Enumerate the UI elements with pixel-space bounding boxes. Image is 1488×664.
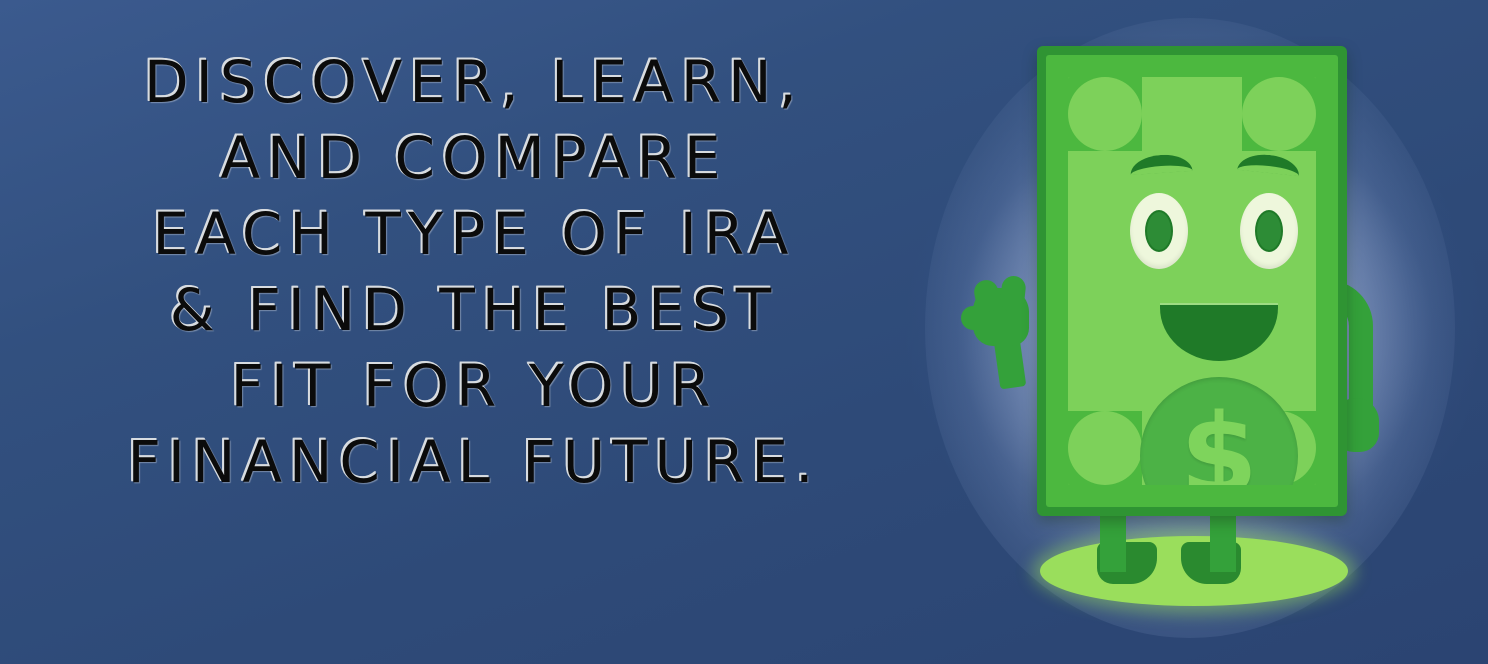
headline-line-6: FINANCIAL FUTURE. [0, 424, 948, 500]
corner-notch-bottom-left [1068, 411, 1142, 485]
dollar-bill-mascot: $ [955, 28, 1425, 628]
headline-line-2: AND COMPARE [0, 120, 948, 196]
pupil-left [1145, 210, 1173, 252]
smile-icon [1160, 305, 1278, 361]
eye-left-icon [1130, 193, 1188, 269]
dollar-seal-icon: $ [1140, 377, 1298, 485]
eyebrow-left-icon [1129, 153, 1192, 175]
headline-line-5: FIT FOR YOUR [0, 348, 948, 424]
promo-banner: DISCOVER, LEARN, AND COMPARE EACH TYPE O… [0, 0, 1488, 664]
corner-notch-top-left [1068, 77, 1142, 151]
dollar-sign-glyph: $ [1140, 377, 1298, 485]
pupil-right [1255, 210, 1283, 252]
eyebrow-right-icon [1237, 152, 1301, 176]
banknote-panel: $ [1068, 77, 1316, 485]
headline-line-3: EACH TYPE OF IRA [0, 196, 948, 272]
headline-line-4: & FIND THE BEST [0, 272, 948, 348]
corner-notch-top-right [1242, 77, 1316, 151]
thumb-left [961, 306, 987, 330]
waving-hand-icon [957, 260, 1037, 388]
banknote-body: $ [1037, 46, 1347, 516]
eye-right-icon [1240, 193, 1298, 269]
headline: DISCOVER, LEARN, AND COMPARE EACH TYPE O… [0, 44, 948, 500]
headline-line-1: DISCOVER, LEARN, [0, 44, 948, 120]
banknote-inner-border: $ [1046, 55, 1338, 507]
